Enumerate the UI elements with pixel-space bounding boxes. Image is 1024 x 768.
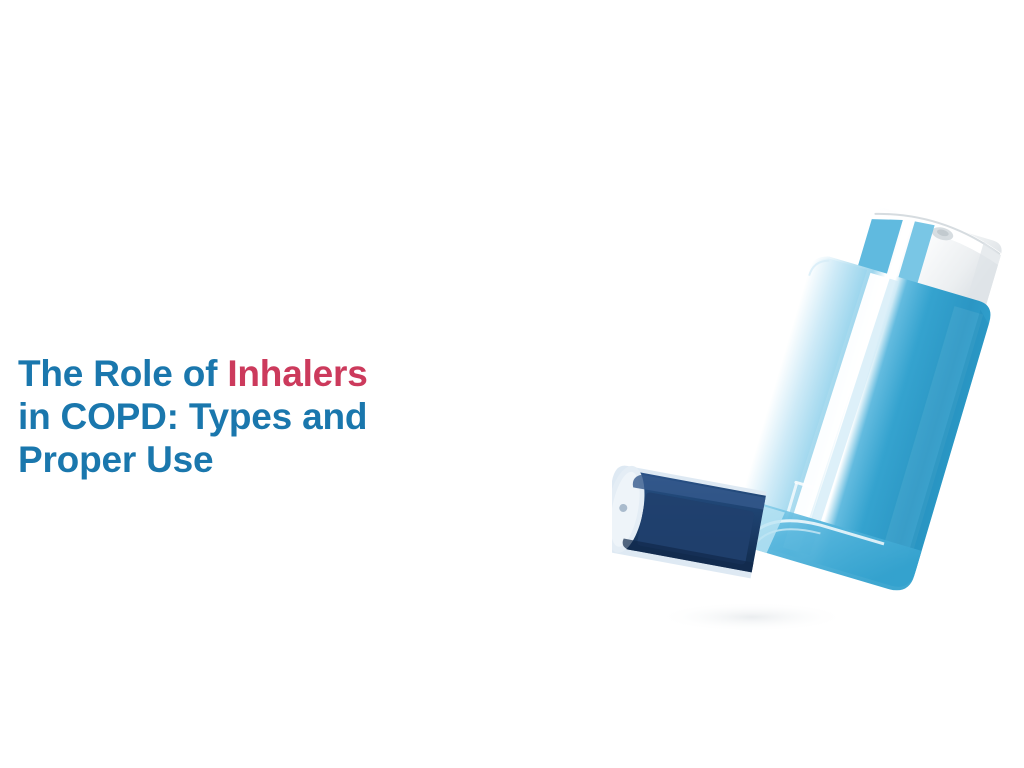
article-header-banner: The Role of Inhalersin COPD: Types andPr… <box>0 0 1024 768</box>
title-line-2: in COPD: Types and <box>18 396 367 437</box>
mouthpiece-cap <box>612 463 767 579</box>
page-title: The Role of Inhalersin COPD: Types andPr… <box>18 352 578 481</box>
title-accent-word: Inhalers <box>227 353 367 394</box>
inhaler-illustration <box>612 185 1012 645</box>
inhaler-photo <box>612 185 1012 645</box>
heading-block: The Role of Inhalersin COPD: Types andPr… <box>18 352 578 481</box>
title-line-3: Proper Use <box>18 439 213 480</box>
inhaler-shadow <box>656 602 848 632</box>
title-line-1-lead: The Role of <box>18 353 227 394</box>
